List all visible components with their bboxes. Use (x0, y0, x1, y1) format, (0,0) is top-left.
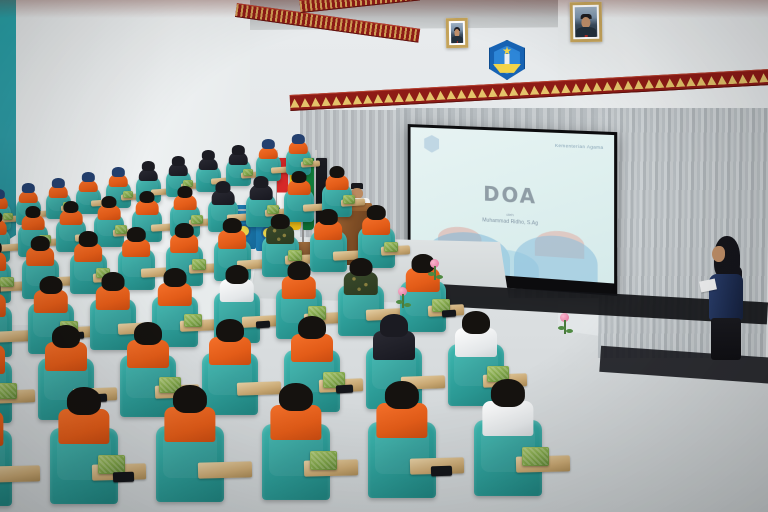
frieze-triangle (404, 92, 414, 102)
frieze-triangle (425, 91, 435, 101)
audience-member (0, 189, 7, 209)
audience-member (344, 258, 377, 296)
frieze-triangle (457, 89, 467, 99)
frieze-triangle (561, 84, 571, 94)
snack-box[interactable] (123, 191, 133, 198)
audience-member (210, 319, 250, 365)
frieze-triangle (707, 76, 717, 86)
audience-member (19, 183, 37, 203)
seat-tablet-arm[interactable] (198, 461, 252, 478)
master-of-ceremony (704, 236, 752, 360)
hair (101, 196, 116, 208)
audience-member (34, 276, 67, 314)
hair (39, 276, 62, 295)
hair (462, 311, 490, 334)
frieze-triangle (352, 95, 362, 105)
frieze-triangle (686, 77, 696, 87)
audience-member (456, 311, 496, 357)
audience-member (96, 272, 129, 310)
auditorium-photo: Kementerian Agama DOA oleh Muhammad Ridh… (0, 0, 768, 512)
frieze-triangle (509, 87, 519, 97)
hair (291, 171, 306, 183)
hijab (22, 183, 34, 193)
hijab (52, 178, 64, 188)
uniform-torso (0, 252, 6, 271)
audience-member (272, 383, 321, 439)
audience-member (174, 186, 196, 211)
frieze-triangle (300, 98, 310, 108)
snack-box[interactable] (522, 447, 549, 467)
audience-member (288, 171, 310, 196)
frieze-triangle (602, 81, 612, 91)
audience-member (0, 211, 6, 236)
hair (127, 227, 145, 242)
smartphone[interactable] (442, 310, 456, 317)
audience-member (0, 240, 6, 270)
frieze-triangle (436, 90, 446, 100)
frieze-triangle (384, 93, 394, 103)
hair (349, 258, 372, 277)
audience-member (259, 139, 277, 159)
audience-member (79, 172, 97, 192)
audience-member (374, 314, 414, 360)
snack-box[interactable] (184, 314, 202, 327)
frieze-triangle (717, 75, 727, 85)
hijab (262, 139, 274, 149)
smartphone[interactable] (335, 385, 352, 394)
audience-member (158, 268, 191, 306)
audience-member (212, 181, 234, 206)
hijab (82, 172, 94, 182)
hair (31, 236, 49, 251)
snack-box[interactable] (343, 195, 355, 204)
audience-member (289, 134, 307, 154)
frieze-triangle (331, 96, 341, 106)
hijab (292, 134, 304, 144)
frieze-triangle (529, 85, 539, 95)
frieze-triangle (290, 98, 300, 108)
frieze-triangle (748, 74, 758, 84)
audience-member (250, 176, 272, 201)
slide-logo-icon (424, 135, 439, 153)
frieze-triangle (665, 78, 675, 88)
audience-member (169, 156, 187, 176)
hijab (112, 167, 124, 177)
audience-member (0, 328, 4, 374)
frieze-triangle (582, 83, 592, 93)
audience-member (326, 166, 348, 191)
snack-box[interactable] (267, 205, 279, 214)
audience-seating (0, 195, 768, 512)
uniform-torso (0, 345, 5, 374)
audience-member (0, 389, 2, 445)
seat-tablet-arm[interactable] (0, 330, 31, 342)
uniform-torso (0, 411, 4, 446)
hair (491, 379, 525, 407)
hair (319, 209, 337, 224)
frieze-triangle (363, 94, 373, 104)
hair (287, 261, 310, 280)
hair (175, 223, 193, 238)
frieze-triangle (613, 81, 623, 91)
audience-member (363, 205, 389, 235)
flower-vase (430, 259, 442, 281)
frieze-triangle (571, 83, 581, 93)
audience-member (75, 231, 101, 261)
snack-box[interactable] (288, 250, 303, 261)
hair (163, 268, 186, 287)
seat-tablet-arm[interactable] (0, 465, 40, 482)
hijab (172, 156, 184, 166)
audience-member (166, 385, 215, 441)
snack-box[interactable] (192, 259, 207, 270)
uniform-torso (0, 294, 6, 317)
uniform-torso (0, 220, 6, 235)
portrait-president (570, 2, 603, 43)
hijab (253, 176, 268, 188)
frieze-triangle (373, 94, 383, 104)
frieze-triangle (550, 84, 560, 94)
hair (279, 383, 313, 411)
snack-box[interactable] (0, 383, 17, 399)
frieze-triangle (696, 76, 706, 86)
hair (63, 201, 78, 213)
audience-member (315, 209, 341, 239)
frieze-triangle (644, 79, 654, 89)
hair (134, 322, 162, 345)
hijab (380, 314, 408, 337)
institution-emblem-icon (489, 40, 525, 80)
frieze-triangle (467, 89, 477, 99)
audience-member (171, 223, 197, 253)
frieze-triangle (342, 96, 352, 106)
hair (223, 218, 241, 233)
audience-member (267, 214, 293, 244)
audience-member (0, 279, 5, 317)
audience-member (282, 261, 315, 299)
frieze-triangle (675, 78, 685, 88)
audience-member (136, 191, 158, 216)
audience-member (128, 322, 168, 368)
audience-member (484, 379, 533, 435)
frieze-triangle (728, 75, 738, 85)
flower-vase (398, 287, 410, 309)
snack-box[interactable] (310, 451, 337, 471)
frieze-triangle (759, 73, 768, 83)
frieze-triangle (519, 86, 529, 96)
audience-member (27, 236, 53, 266)
hair (139, 191, 154, 203)
hair (385, 381, 419, 409)
frieze-triangle (655, 79, 665, 89)
hair (177, 186, 192, 198)
audience-member (98, 196, 120, 221)
flower-vase (560, 313, 572, 335)
frieze-triangle (477, 88, 487, 98)
hair (298, 316, 326, 339)
hijab (202, 150, 214, 160)
audience-member (123, 227, 149, 257)
hair (101, 272, 124, 291)
audience-member (292, 316, 332, 362)
hijab (142, 161, 154, 171)
snack-box[interactable] (384, 242, 399, 253)
frieze-triangle (498, 87, 508, 97)
audience-member (46, 325, 86, 371)
frieze-triangle (446, 90, 456, 100)
smartphone[interactable] (113, 471, 134, 481)
audience-member (22, 206, 44, 231)
smartphone[interactable] (431, 465, 452, 475)
frieze-triangle (488, 88, 498, 98)
hair (225, 265, 248, 284)
hijab (215, 181, 230, 193)
frieze-triangle (321, 97, 331, 107)
audience-member (60, 387, 109, 443)
frieze-triangle (311, 97, 321, 107)
hair (271, 214, 289, 229)
frieze-triangle (540, 85, 550, 95)
hair (329, 166, 344, 178)
hair (52, 325, 80, 348)
snack-box[interactable] (303, 158, 313, 165)
smartphone[interactable] (256, 321, 270, 328)
hair (79, 231, 97, 246)
frieze-triangle (634, 80, 644, 90)
audience-member (219, 218, 245, 248)
hijab (232, 145, 244, 155)
hair (173, 385, 207, 413)
audience-member (199, 150, 217, 170)
slide-brand-text: Kementerian Agama (555, 143, 603, 150)
audience-member (139, 161, 157, 181)
frieze-triangle (738, 74, 748, 84)
audience-member (229, 145, 247, 165)
frieze-triangle (592, 82, 602, 92)
frieze-triangle (415, 92, 425, 102)
portrait-vice-president (446, 18, 469, 48)
hair (367, 205, 385, 220)
audience-member (109, 167, 127, 187)
audience-member (60, 201, 82, 226)
audience-member (378, 381, 427, 437)
hair (67, 387, 101, 415)
audience-member (49, 178, 67, 198)
frieze-triangle (394, 93, 404, 103)
audience-member (220, 265, 253, 303)
hair (25, 206, 40, 218)
hair (216, 319, 244, 342)
frieze-triangle (623, 80, 633, 90)
